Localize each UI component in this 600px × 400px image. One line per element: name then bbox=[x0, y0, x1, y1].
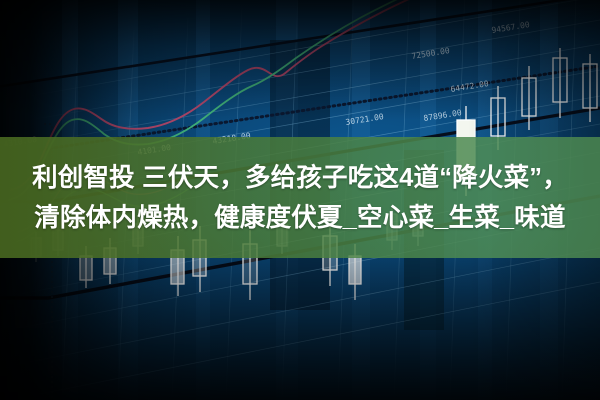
headline-line-1: 利创智投 三伏天，多给孩子吃这4道“降火菜”， bbox=[32, 158, 568, 198]
headline-block: 利创智投 三伏天，多给孩子吃这4道“降火菜”， 清除体内燥热，健康度伏夏_空心菜… bbox=[0, 137, 600, 258]
banner-image: 94567.00 72500.00 64472.00 30721.00 8789… bbox=[0, 0, 600, 400]
headline-line-2: 清除体内燥热，健康度伏夏_空心菜_生菜_味道 bbox=[34, 198, 565, 238]
